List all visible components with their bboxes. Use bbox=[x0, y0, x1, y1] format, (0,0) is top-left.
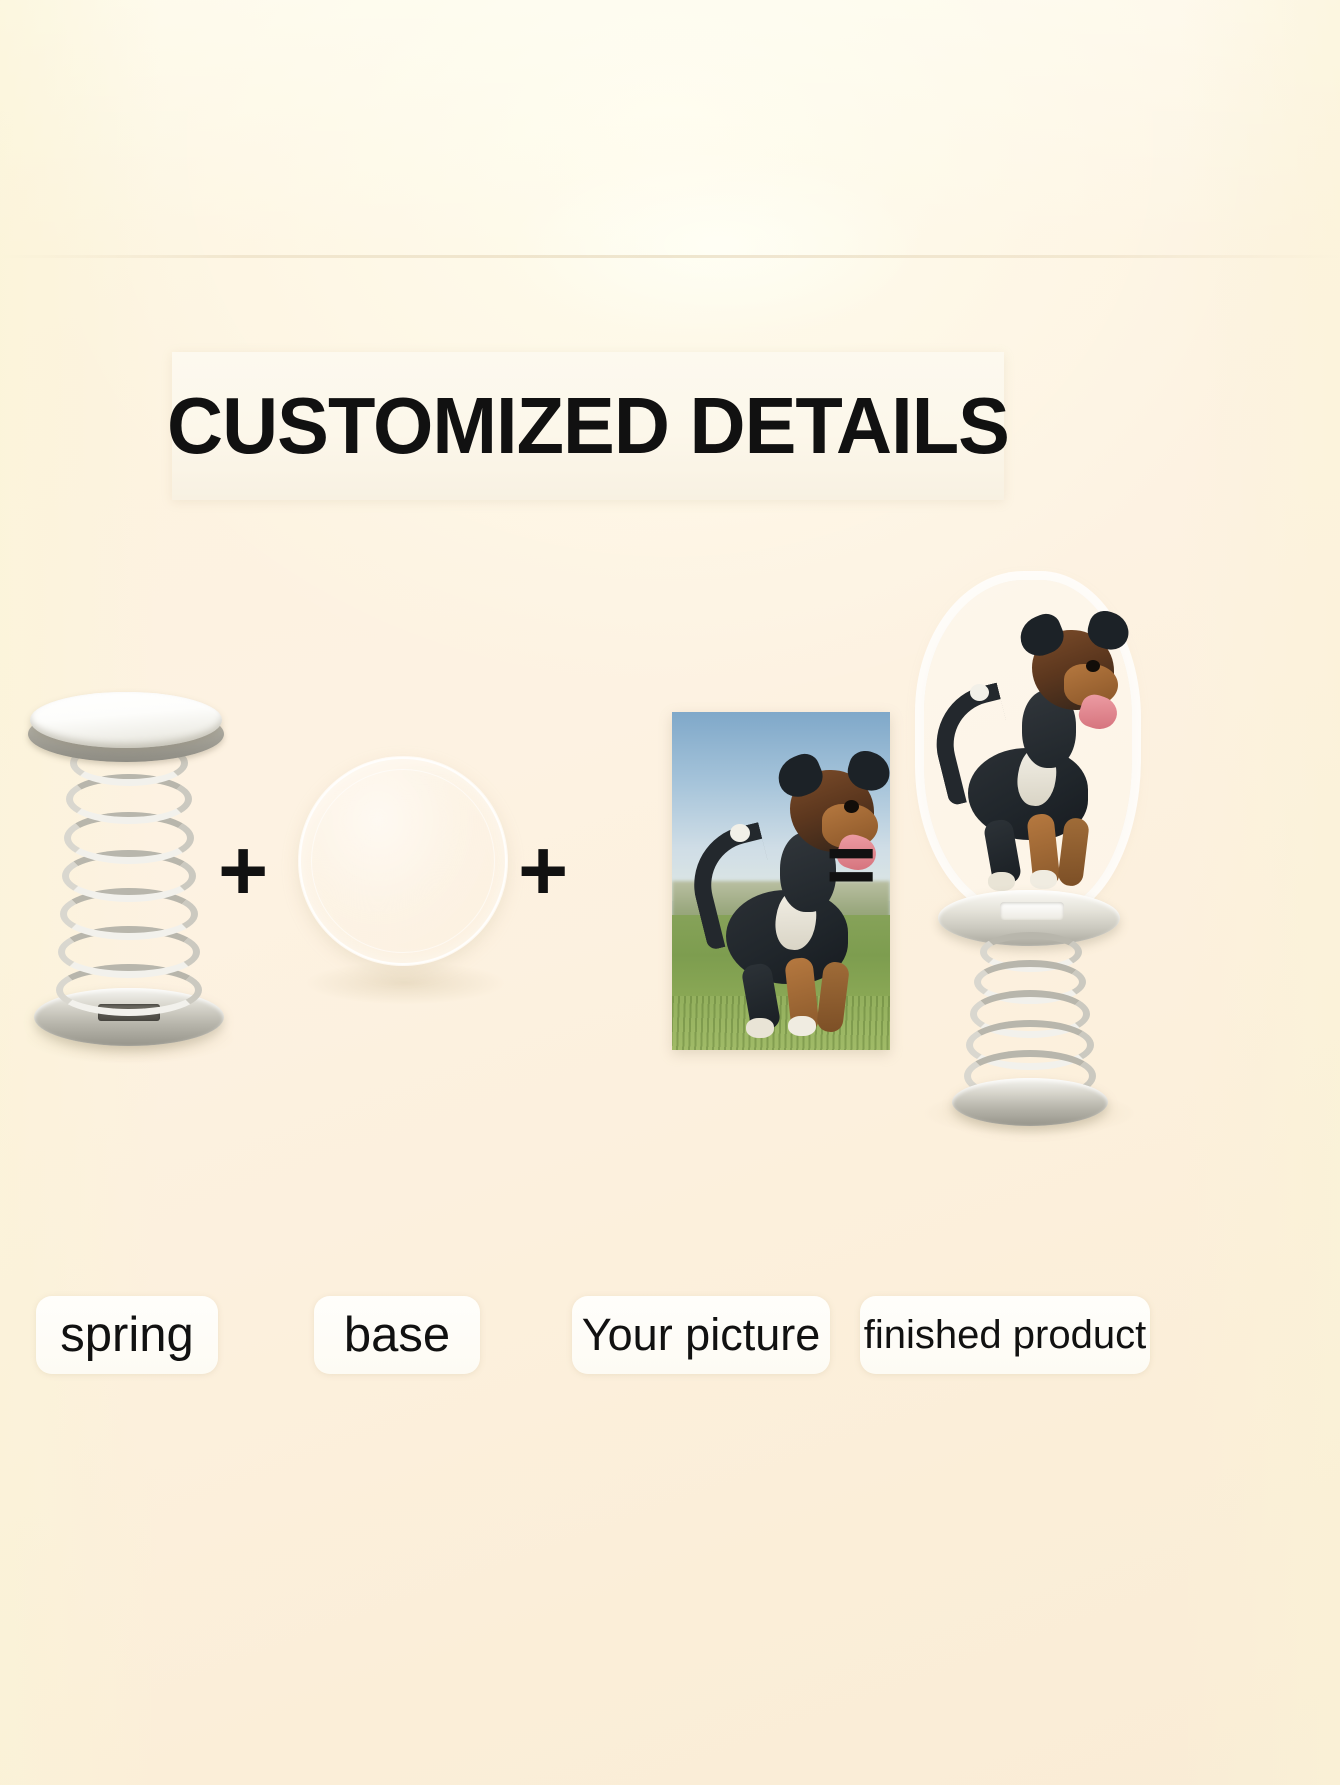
label-spring-text: spring bbox=[60, 1307, 193, 1363]
page-title: CUSTOMIZED DETAILS bbox=[167, 380, 1009, 472]
operator-equals: = bbox=[826, 822, 876, 908]
operator-plus-2: + bbox=[518, 828, 568, 914]
component-base bbox=[290, 560, 520, 1180]
dog-paw-white bbox=[788, 1016, 816, 1036]
product-infographic: CUSTOMIZED DETAILS bbox=[0, 0, 1340, 1785]
title-plate: CUSTOMIZED DETAILS bbox=[172, 352, 1004, 500]
background-floor-line bbox=[0, 255, 1340, 258]
label-your-picture-text: Your picture bbox=[582, 1309, 821, 1361]
operator-plus-1: + bbox=[218, 828, 268, 914]
standee-dog-paw-white bbox=[1030, 870, 1057, 889]
background-glow bbox=[509, 150, 929, 340]
standee-dog-illustration bbox=[918, 586, 1136, 904]
label-base: base bbox=[314, 1296, 480, 1374]
label-spring: spring bbox=[36, 1296, 218, 1374]
component-picture bbox=[590, 560, 850, 1180]
base-shadow bbox=[306, 962, 504, 1004]
base-acrylic-inner-ring bbox=[311, 769, 495, 953]
dog-tail-tip bbox=[730, 824, 750, 842]
label-finished-product-text: finished product bbox=[864, 1313, 1146, 1358]
standee-dog-paw-white-2 bbox=[988, 872, 1015, 891]
finished-spring-base-disc bbox=[952, 1078, 1108, 1126]
standee-dog-tail-tip bbox=[970, 684, 989, 701]
component-finished-product bbox=[900, 560, 1200, 1180]
assembly-formula-row: + + bbox=[0, 560, 1340, 1180]
label-base-text: base bbox=[344, 1307, 450, 1363]
label-your-picture: Your picture bbox=[572, 1296, 830, 1374]
component-labels-row: spring base Your picture finished produc… bbox=[0, 1296, 1340, 1406]
spring-cap bbox=[30, 692, 222, 748]
label-finished-product: finished product bbox=[860, 1296, 1150, 1374]
standee-dog-eye bbox=[1086, 660, 1100, 672]
dog-paw-white-2 bbox=[746, 1018, 774, 1038]
standee-acrylic-panel bbox=[924, 580, 1132, 910]
base-acrylic-disc bbox=[298, 756, 508, 966]
dog-eye bbox=[844, 800, 859, 813]
finished-stand-slot bbox=[1000, 902, 1064, 920]
